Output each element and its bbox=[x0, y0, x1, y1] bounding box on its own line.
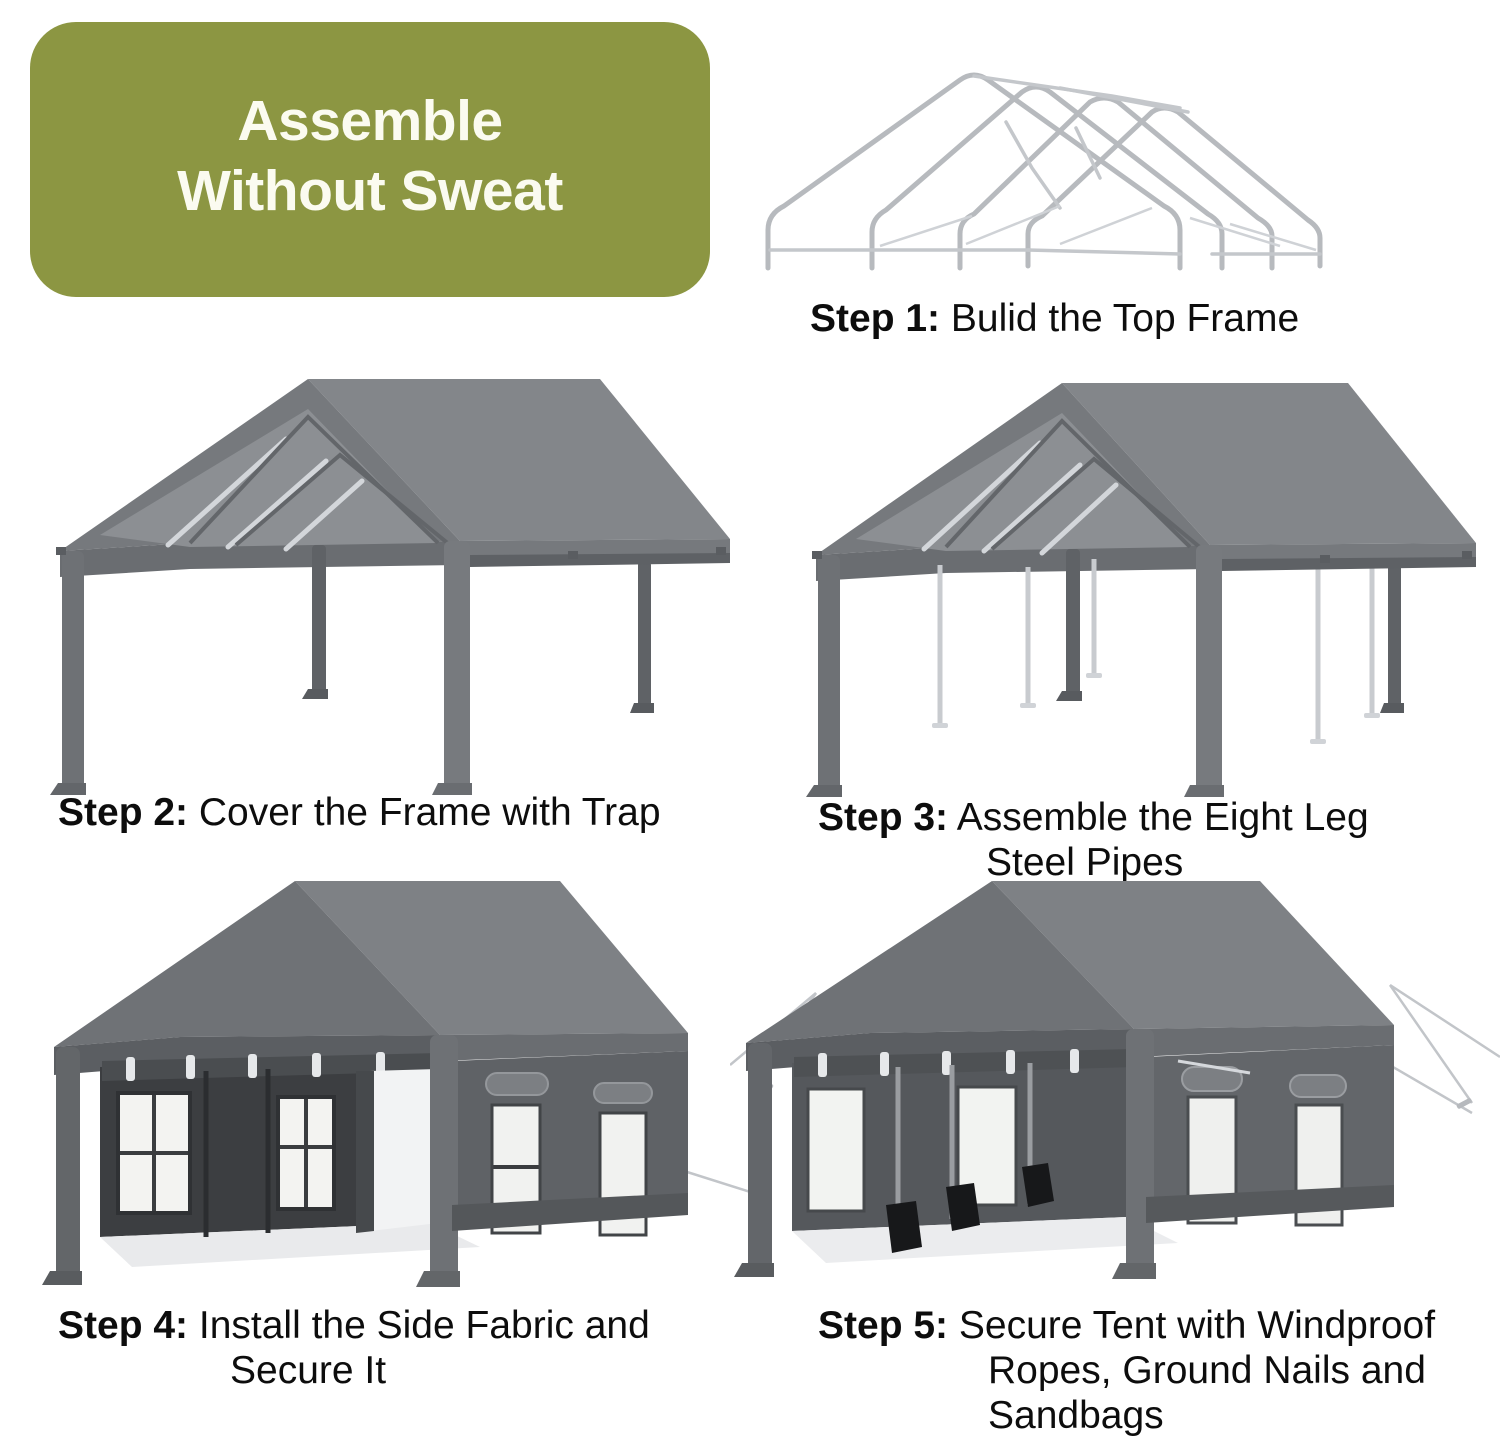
step-3-lead: Step 3: bbox=[818, 796, 948, 839]
step-3-description-line-1: Assemble the Eight Leg bbox=[948, 796, 1369, 839]
step-3-illustration bbox=[800, 375, 1490, 800]
step-5-description-line-2: Ropes, Ground Nails and bbox=[818, 1348, 1435, 1393]
added-leg-pipes bbox=[940, 559, 1372, 741]
leg-back-right bbox=[1388, 563, 1401, 709]
step-2-description: Cover the Frame with Trap bbox=[188, 791, 661, 834]
step-5-cell: Step 5: Secure Tent with WindproofRopes,… bbox=[730, 875, 1500, 1435]
step-5-description-line-1: Secure Tent with Windproof bbox=[948, 1304, 1435, 1347]
step-1-description: Bulid the Top Frame bbox=[940, 297, 1299, 340]
step-5-illustration bbox=[730, 875, 1500, 1295]
step-2-lead: Step 2: bbox=[58, 791, 188, 834]
step-1-caption: Step 1: Bulid the Top Frame bbox=[810, 296, 1299, 341]
title-line-1: Assemble bbox=[237, 89, 502, 153]
leg-back-left bbox=[1066, 549, 1080, 697]
step-4-description-line-1: Install the Side Fabric and bbox=[188, 1304, 650, 1347]
step-1-illustration bbox=[760, 18, 1490, 278]
door-opening bbox=[370, 1069, 438, 1231]
window-panel bbox=[118, 1093, 190, 1213]
leg-front-left bbox=[62, 551, 84, 791]
step-4-description-line-2: Secure It bbox=[58, 1348, 650, 1393]
step-2-illustration bbox=[40, 365, 740, 795]
leg-front-left bbox=[748, 1043, 772, 1271]
title-badge: AssembleWithout Sweat bbox=[30, 22, 710, 297]
step-4-caption: Step 4: Install the Side Fabric andSecur… bbox=[58, 1303, 650, 1393]
step-1-cell: Step 1: Bulid the Top Frame bbox=[760, 18, 1490, 348]
window-panel bbox=[278, 1097, 334, 1209]
step-4-cell: Step 4: Install the Side Fabric andSecur… bbox=[40, 875, 760, 1435]
leg-front-left bbox=[818, 555, 840, 793]
step-3-cell: Step 3: Assemble the Eight LegSteel Pipe… bbox=[800, 375, 1490, 885]
leg-front-left bbox=[56, 1047, 80, 1279]
step-3-caption: Step 3: Assemble the Eight LegSteel Pipe… bbox=[818, 795, 1369, 885]
step-5-caption: Step 5: Secure Tent with WindproofRopes,… bbox=[818, 1303, 1435, 1439]
step-1-lead: Step 1: bbox=[810, 297, 940, 340]
leg-center bbox=[1196, 545, 1222, 793]
leg-center bbox=[430, 1035, 458, 1279]
leg-back-left bbox=[312, 545, 326, 695]
leg-back-right bbox=[638, 561, 651, 709]
leg-center bbox=[1126, 1029, 1154, 1271]
title-badge-text: AssembleWithout Sweat bbox=[177, 87, 563, 232]
window-panel bbox=[808, 1089, 864, 1211]
step-5-description-line-3: Sandbags bbox=[818, 1393, 1435, 1438]
step-2-cell: Step 2: Cover the Frame with Trap bbox=[40, 365, 740, 875]
leg-center bbox=[444, 541, 470, 791]
step-4-illustration bbox=[40, 875, 760, 1295]
step-2-caption: Step 2: Cover the Frame with Trap bbox=[58, 790, 661, 835]
title-line-2: Without Sweat bbox=[177, 159, 563, 223]
step-5-lead: Step 5: bbox=[818, 1304, 948, 1347]
step-4-lead: Step 4: bbox=[58, 1304, 188, 1347]
